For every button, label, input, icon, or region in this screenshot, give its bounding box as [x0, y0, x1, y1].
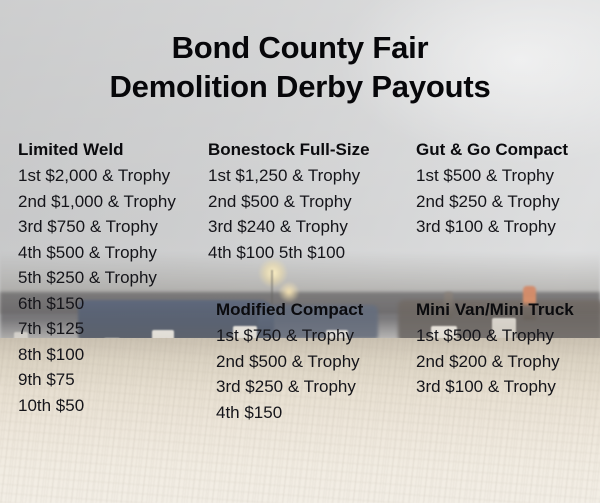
payout-line: 4th $150: [216, 400, 363, 426]
payout-line: 1st $750 & Trophy: [216, 323, 363, 349]
payout-line: 2nd $200 & Trophy: [416, 349, 574, 375]
payout-line: 1st $1,250 & Trophy: [208, 163, 370, 189]
title-line-2: Demolition Derby Payouts: [0, 67, 600, 106]
title-line-1: Bond County Fair: [0, 28, 600, 67]
payout-line: 3rd $250 & Trophy: [216, 374, 363, 400]
payout-line: 2nd $1,000 & Trophy: [18, 189, 176, 215]
category-title: Modified Compact: [216, 297, 363, 322]
derby-payout-poster: Bond County Fair Demolition Derby Payout…: [0, 0, 600, 503]
payout-line: 1st $500 & Trophy: [416, 163, 568, 189]
payout-line: 1st $2,000 & Trophy: [18, 163, 176, 189]
payout-line: 9th $75: [18, 367, 176, 393]
payout-line: 2nd $250 & Trophy: [416, 189, 568, 215]
payout-line: 3rd $100 & Trophy: [416, 214, 568, 240]
payout-line: 4th $500 & Trophy: [18, 240, 176, 266]
payout-line: 2nd $500 & Trophy: [208, 189, 370, 215]
category-mini-van-mini-truck: Mini Van/Mini Truck 1st $500 & Trophy 2n…: [416, 297, 574, 400]
payout-line: 7th $125: [18, 316, 176, 342]
category-title: Gut & Go Compact: [416, 137, 568, 162]
payout-line: 3rd $100 & Trophy: [416, 374, 574, 400]
payout-line: 6th $150: [18, 291, 176, 317]
payout-line: 3rd $240 & Trophy: [208, 214, 370, 240]
payout-line: 10th $50: [18, 393, 176, 419]
category-limited-weld: Limited Weld 1st $2,000 & Trophy 2nd $1,…: [18, 137, 176, 418]
payout-line: 5th $250 & Trophy: [18, 265, 176, 291]
payout-line: 3rd $750 & Trophy: [18, 214, 176, 240]
category-bonestock-full-size: Bonestock Full-Size 1st $1,250 & Trophy …: [208, 137, 370, 265]
category-title: Mini Van/Mini Truck: [416, 297, 574, 322]
payout-line: 4th $100 5th $100: [208, 240, 370, 266]
category-modified-compact: Modified Compact 1st $750 & Trophy 2nd $…: [216, 297, 363, 425]
category-title: Limited Weld: [18, 137, 176, 162]
poster-content: Bond County Fair Demolition Derby Payout…: [0, 0, 600, 503]
payout-line: 1st $500 & Trophy: [416, 323, 574, 349]
poster-title: Bond County Fair Demolition Derby Payout…: [0, 28, 600, 106]
payout-line: 2nd $500 & Trophy: [216, 349, 363, 375]
category-gut-and-go-compact: Gut & Go Compact 1st $500 & Trophy 2nd $…: [416, 137, 568, 240]
category-title: Bonestock Full-Size: [208, 137, 370, 162]
payout-line: 8th $100: [18, 342, 176, 368]
